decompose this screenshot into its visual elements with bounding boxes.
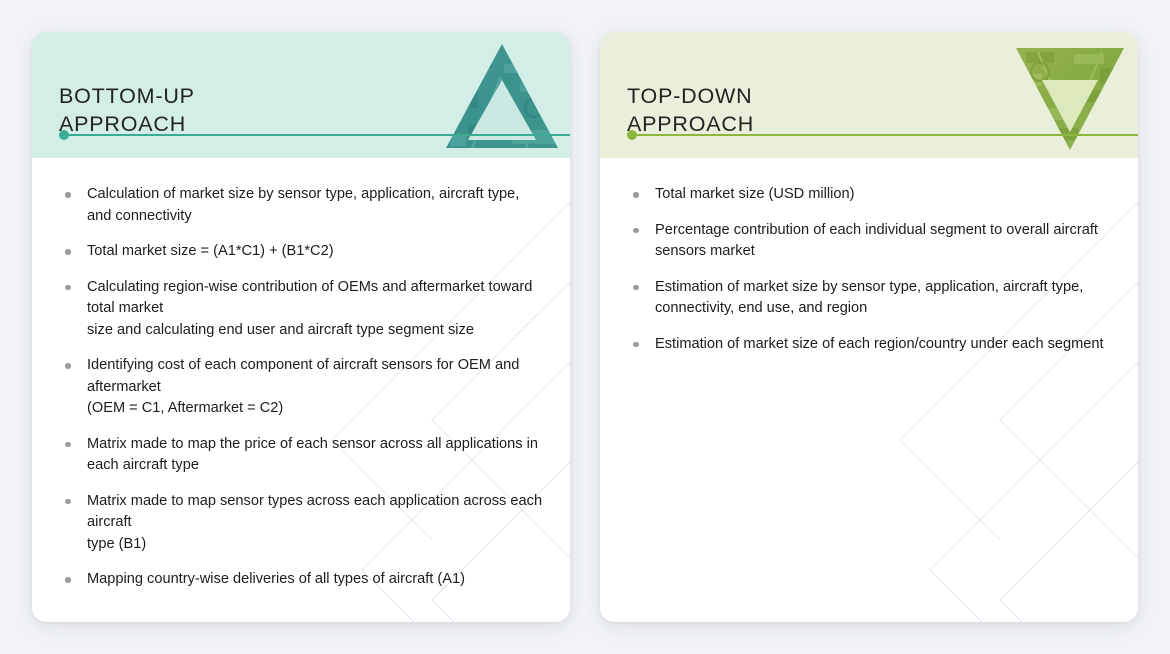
list-item: Identifying cost of each component of ai…: [56, 355, 546, 420]
page-root: BOTTOM-UP APPROACH Calculation of market…: [0, 0, 1170, 654]
card-header-top-down: TOP-DOWN APPROACH: [600, 32, 1138, 158]
list-item: Total market size = (A1*C1) + (B1*C2): [56, 241, 546, 263]
list-item: Estimation of market size by sensor type…: [624, 277, 1114, 320]
rule-line: [636, 134, 1138, 136]
header-rule-top-down: [627, 129, 1138, 141]
list-item: Matrix made to map sensor types across e…: [56, 491, 546, 556]
list-item: Calculating region-wise contribution of …: [56, 277, 546, 342]
header-rule-bottom-up: [59, 129, 570, 141]
rule-line: [68, 134, 570, 136]
list-item: Mapping country-wise deliveries of all t…: [56, 569, 546, 591]
card-body-bottom-up: Calculation of market size by sensor typ…: [32, 158, 570, 591]
list-item: Calculation of market size by sensor typ…: [56, 184, 546, 227]
bullet-list-top-down: Total market size (USD million) Percenta…: [624, 184, 1114, 355]
card-top-down-approach: TOP-DOWN APPROACH Total market size (USD…: [600, 32, 1138, 622]
card-header-bottom-up: BOTTOM-UP APPROACH: [32, 32, 570, 158]
list-item: Matrix made to map the price of each sen…: [56, 434, 546, 477]
card-body-top-down: Total market size (USD million) Percenta…: [600, 158, 1138, 355]
list-item: Percentage contribution of each individu…: [624, 220, 1114, 263]
card-bottom-up-approach: BOTTOM-UP APPROACH Calculation of market…: [32, 32, 570, 622]
list-item: Estimation of market size of each region…: [624, 334, 1114, 356]
list-item: Total market size (USD million): [624, 184, 1114, 206]
bullet-list-bottom-up: Calculation of market size by sensor typ…: [56, 184, 546, 591]
